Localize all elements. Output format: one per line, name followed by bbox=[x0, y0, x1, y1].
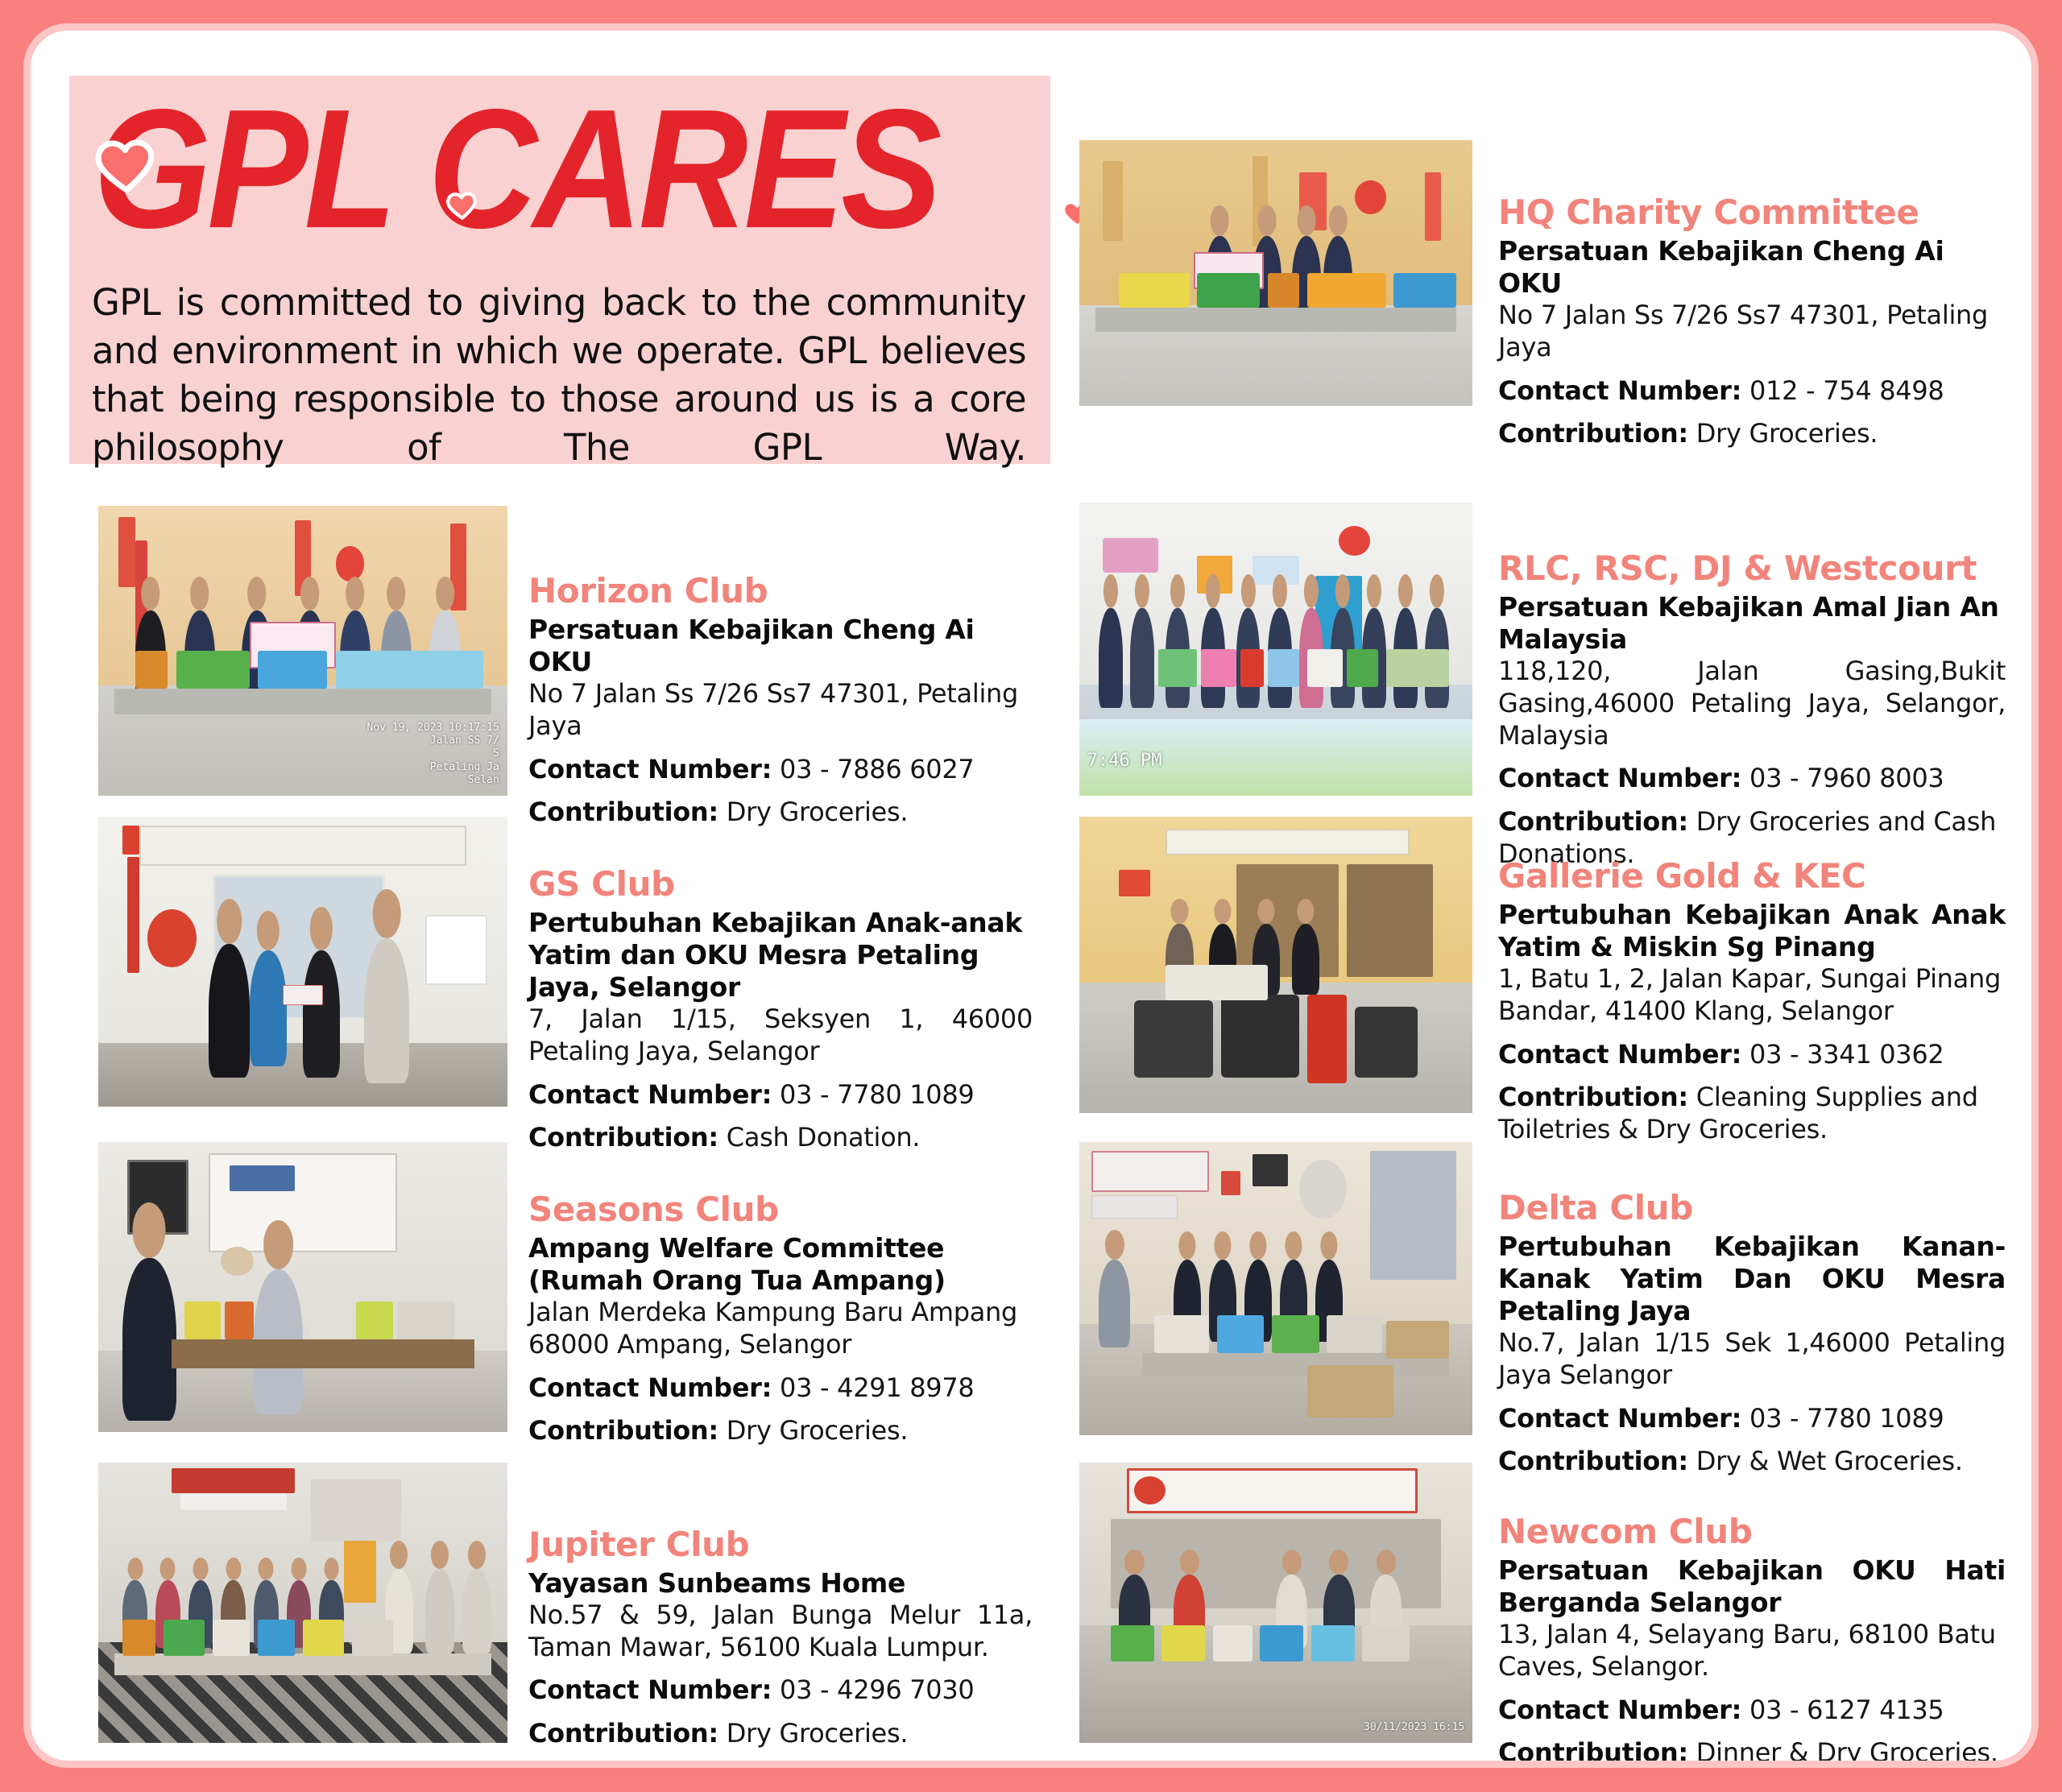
contact-value: 03 - 4291 8978 bbox=[780, 1372, 974, 1403]
charity-entry: 30/11/2023 16:15 Newcom Club Persatuan K… bbox=[1079, 1463, 2006, 1761]
entry-photo bbox=[1079, 1142, 1472, 1435]
contact-row: Contact Number: 03 - 6127 4135 bbox=[1498, 1695, 2006, 1727]
organisation-address: No.7, Jalan 1/15 Sek 1,46000 Petaling Ja… bbox=[1498, 1327, 2006, 1391]
club-name: Delta Club bbox=[1498, 1189, 2006, 1228]
organisation-name: Persatuan Kebajikan Amal Jian An Malaysi… bbox=[1498, 591, 2006, 656]
entry-info: RLC, RSC, DJ & Westcourt Persatuan Kebaj… bbox=[1498, 503, 2006, 870]
contact-row: Contact Number: 03 - 3341 0362 bbox=[1498, 1039, 2006, 1071]
contribution-row: Contribution: Dinner & Dry Groceries. bbox=[1498, 1737, 2006, 1761]
photo-timestamp: Nov 19, 2023 10:17:15 Jalan SS 7/ S Peta… bbox=[366, 722, 499, 787]
contact-row: Contact Number: 03 - 7960 8003 bbox=[1498, 763, 2006, 795]
entry-info: Horizon Club Persatuan Kebajikan Cheng A… bbox=[528, 506, 1033, 829]
contact-value: 03 - 7886 6027 bbox=[780, 754, 974, 784]
entry-photo: 30/11/2023 16:15 bbox=[1079, 1463, 1472, 1743]
contribution-label: Contribution: bbox=[528, 1718, 718, 1749]
contribution-label: Contribution: bbox=[1498, 1082, 1688, 1112]
contribution-row: Contribution: Dry Groceries. bbox=[528, 1415, 1033, 1447]
contribution-value: Dry Groceries. bbox=[727, 1415, 908, 1446]
contact-row: Contact Number: 03 - 7780 1089 bbox=[528, 1079, 1033, 1111]
entry-info: Delta Club Pertubuhan Kebajikan Kanan-Ka… bbox=[1498, 1142, 2006, 1478]
club-name: Horizon Club bbox=[528, 572, 1033, 611]
contribution-label: Contribution: bbox=[528, 1415, 718, 1446]
contribution-row: Contribution: Dry Groceries. bbox=[528, 1718, 1033, 1750]
contact-value: 012 - 754 8498 bbox=[1749, 375, 1944, 406]
entry-info: HQ Charity Committee Persatuan Kebajikan… bbox=[1498, 140, 2001, 450]
contact-label: Contact Number: bbox=[1498, 1403, 1741, 1434]
contribution-label: Contribution: bbox=[1498, 1737, 1688, 1761]
organisation-name: Persatuan Kebajikan OKU Hati Berganda Se… bbox=[1498, 1554, 2006, 1620]
organisation-address: 7, Jalan 1/15, Seksyen 1, 46000 Petaling… bbox=[528, 1004, 1033, 1067]
entry-info: Seasons Club Ampang Welfare Committee (R… bbox=[528, 1142, 1033, 1447]
charity-entry: Nov 19, 2023 10:17:15 Jalan SS 7/ S Peta… bbox=[98, 506, 1033, 829]
entry-info: Gallerie Gold & KEC Pertubuhan Kebajikan… bbox=[1498, 817, 2006, 1146]
organisation-address: No.57 & 59, Jalan Bunga Melur 11a, Taman… bbox=[528, 1600, 1033, 1663]
contribution-value: Dry Groceries. bbox=[1696, 418, 1878, 449]
club-name: Seasons Club bbox=[528, 1190, 1033, 1230]
organisation-address: No 7 Jalan Ss 7/26 Ss7 47301, Petaling J… bbox=[1498, 300, 2001, 363]
charity-entry: Jupiter Club Yayasan Sunbeams Home No.57… bbox=[98, 1463, 1033, 1750]
contact-row: Contact Number: 03 - 4296 7030 bbox=[528, 1674, 1033, 1707]
contact-value: 03 - 7780 1089 bbox=[780, 1079, 974, 1110]
organisation-name: Persatuan Kebajikan Cheng Ai OKU bbox=[1498, 235, 2001, 300]
contact-label: Contact Number: bbox=[528, 1079, 772, 1110]
organisation-address: No 7 Jalan Ss 7/26 Ss7 47301, Petaling J… bbox=[528, 678, 1033, 742]
contact-label: Contact Number: bbox=[1498, 1039, 1741, 1070]
poster-page: GPL CARES GPL is committed to giving bac… bbox=[0, 0, 2062, 1792]
entry-photo: 7:46 PM bbox=[1079, 503, 1472, 796]
contact-value: 03 - 7960 8003 bbox=[1749, 763, 1944, 793]
contact-label: Contact Number: bbox=[1498, 375, 1741, 406]
contribution-row: Contribution: Dry Groceries. bbox=[1498, 418, 2001, 450]
organisation-name: Yayasan Sunbeams Home bbox=[528, 1567, 1033, 1600]
entry-photo bbox=[98, 817, 507, 1107]
entry-photo bbox=[98, 1142, 507, 1432]
charity-entry: HQ Charity Committee Persatuan Kebajikan… bbox=[1079, 140, 2001, 450]
organisation-address: Jalan Merdeka Kampung Baru Ampang 68000 … bbox=[528, 1297, 1033, 1360]
entry-info: Newcom Club Persatuan Kebajikan OKU Hati… bbox=[1498, 1463, 2006, 1761]
entry-info: GS Club Pertubuhan Kebajikan Anak-anak Y… bbox=[528, 817, 1033, 1154]
contact-label: Contact Number: bbox=[1498, 763, 1741, 793]
poster-card: GPL CARES GPL is committed to giving bac… bbox=[31, 31, 2031, 1761]
organisation-name: Pertubuhan Kebajikan Anak Anak Yatim & M… bbox=[1498, 899, 2006, 964]
entry-photo bbox=[98, 1463, 507, 1743]
contact-value: 03 - 6127 4135 bbox=[1749, 1695, 1944, 1725]
organisation-name: Pertubuhan Kebajikan Anak-anak Yatim dan… bbox=[528, 907, 1033, 1004]
contact-row: Contact Number: 03 - 7886 6027 bbox=[528, 754, 1033, 786]
contribution-label: Contribution: bbox=[1498, 418, 1688, 449]
contact-value: 03 - 3341 0362 bbox=[1749, 1039, 1944, 1070]
club-name: HQ Charity Committee bbox=[1498, 193, 2001, 233]
club-name: Gallerie Gold & KEC bbox=[1498, 857, 2006, 896]
contribution-value: Dry Groceries. bbox=[727, 1718, 908, 1749]
contact-row: Contact Number: 03 - 4291 8978 bbox=[528, 1372, 1033, 1405]
organisation-name: Pertubuhan Kebajikan Kanan-Kanak Yatim D… bbox=[1498, 1231, 2006, 1328]
club-name: GS Club bbox=[528, 865, 1033, 904]
charity-entry: Delta Club Pertubuhan Kebajikan Kanan-Ka… bbox=[1079, 1142, 2006, 1478]
organisation-name: Ampang Welfare Committee (Rumah Orang Tu… bbox=[528, 1232, 1033, 1297]
contact-row: Contact Number: 012 - 754 8498 bbox=[1498, 375, 2001, 408]
charity-entries-grid: HQ Charity Committee Persatuan Kebajikan… bbox=[31, 31, 2031, 1761]
contact-value: 03 - 4296 7030 bbox=[780, 1674, 974, 1705]
organisation-name: Persatuan Kebajikan Cheng Ai OKU bbox=[528, 614, 1033, 679]
contact-label: Contact Number: bbox=[528, 1372, 772, 1403]
contact-label: Contact Number: bbox=[1498, 1695, 1741, 1725]
entry-photo: Nov 19, 2023 10:17:15 Jalan SS 7/ S Peta… bbox=[98, 506, 507, 796]
charity-entry: GS Club Pertubuhan Kebajikan Anak-anak Y… bbox=[98, 817, 1033, 1154]
contact-label: Contact Number: bbox=[528, 1674, 772, 1705]
contact-label: Contact Number: bbox=[528, 754, 772, 784]
contribution-row: Contribution: Cleaning Supplies and Toil… bbox=[1498, 1082, 2006, 1145]
club-name: Jupiter Club bbox=[528, 1525, 1033, 1565]
club-name: Newcom Club bbox=[1498, 1513, 2006, 1552]
organisation-address: 1, Batu 1, 2, Jalan Kapar, Sungai Pinang… bbox=[1498, 963, 2006, 1027]
organisation-address: 13, Jalan 4, Selayang Baru, 68100 Batu C… bbox=[1498, 1619, 2006, 1682]
photo-timestamp: 30/11/2023 16:15 bbox=[1364, 1721, 1464, 1734]
entry-photo bbox=[1079, 817, 1472, 1113]
organisation-address: 118,120, Jalan Gasing,Bukit Gasing,46000… bbox=[1498, 656, 2006, 751]
contact-value: 03 - 7780 1089 bbox=[1749, 1403, 1944, 1434]
contact-row: Contact Number: 03 - 7780 1089 bbox=[1498, 1403, 2006, 1435]
contribution-value: Dinner & Dry Groceries. bbox=[1696, 1737, 1998, 1761]
entry-photo bbox=[1079, 140, 1472, 406]
club-name: RLC, RSC, DJ & Westcourt bbox=[1498, 549, 2006, 589]
charity-entry: Gallerie Gold & KEC Pertubuhan Kebajikan… bbox=[1079, 817, 2006, 1146]
charity-entry: 7:46 PM RLC, RSC, DJ & Westcourt Persatu… bbox=[1079, 503, 2006, 870]
entry-info: Jupiter Club Yayasan Sunbeams Home No.57… bbox=[528, 1463, 1033, 1750]
charity-entry: Seasons Club Ampang Welfare Committee (R… bbox=[98, 1142, 1033, 1447]
photo-timestamp: 7:46 PM bbox=[1087, 750, 1162, 772]
